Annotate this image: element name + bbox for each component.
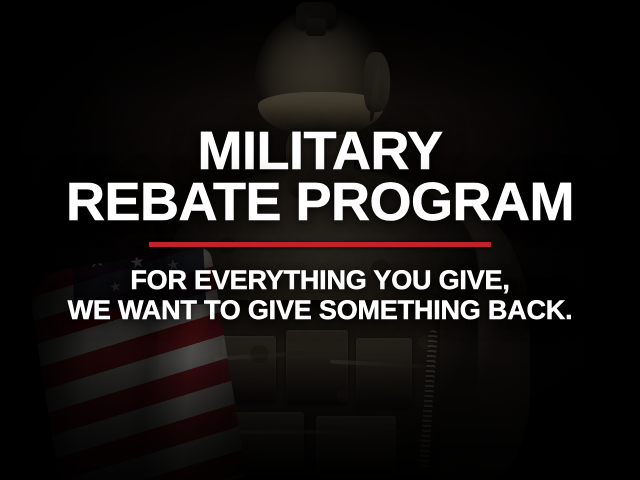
red-divider-rule [149, 242, 491, 247]
headline: MILITARY REBATE PROGRAM [66, 126, 574, 229]
subheadline-line-2: WE WANT TO GIVE SOMETHING BACK. [68, 295, 573, 326]
overlay-content: MILITARY REBATE PROGRAM FOR EVERYTHING Y… [0, 0, 640, 480]
headline-line-1: MILITARY [66, 126, 574, 177]
headline-line-2: REBATE PROGRAM [66, 177, 574, 228]
subheadline-line-1: FOR EVERYTHING YOU GIVE, [68, 265, 573, 296]
military-rebate-banner: ★ ★ ★ ★ MILITARY REBATE PROGRAM FOR EVER… [0, 0, 640, 480]
subheadline: FOR EVERYTHING YOU GIVE, WE WANT TO GIVE… [68, 265, 573, 326]
